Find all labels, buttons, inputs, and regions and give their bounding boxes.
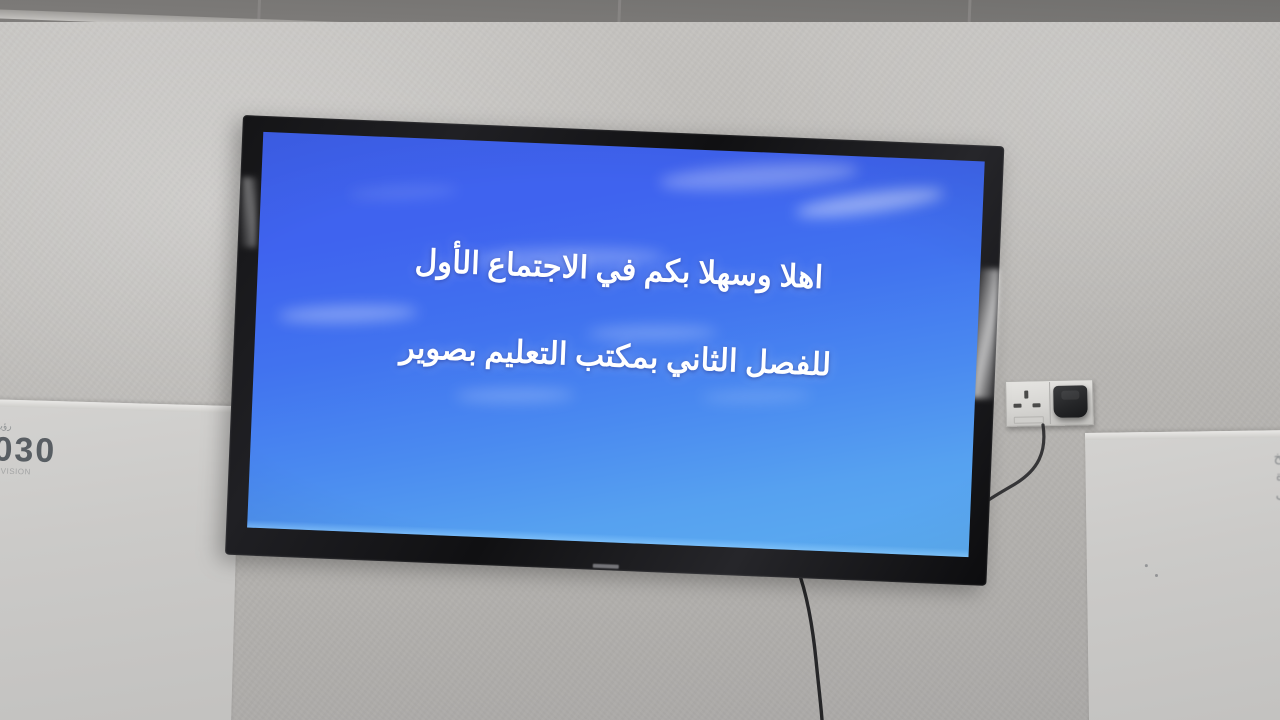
- whiteboard-right: التاريخ المادة الصف: [1085, 430, 1280, 720]
- handwriting-line-2: المادة: [1274, 467, 1280, 486]
- handwriting-line-3: الصف: [1274, 486, 1280, 505]
- vision-logo-year: 2030: [0, 432, 57, 468]
- wall-socket[interactable]: [1005, 379, 1094, 427]
- classroom-photo-scene: رؤية عمان 2030 OMAN VISION التاريخ الماد…: [0, 0, 1280, 720]
- vision-logo-subtitle: OMAN VISION: [0, 467, 56, 477]
- whiteboard-smudge: [1145, 564, 1148, 567]
- whiteboard-smudge: [1155, 574, 1158, 577]
- handwriting-line-1: التاريخ: [1273, 448, 1280, 467]
- wall-mounted-television[interactable]: اهلا وسهلا بكم في الاجتماع الأول للفصل ا…: [225, 115, 1004, 586]
- whiteboard-left: رؤية عمان 2030 OMAN VISION: [0, 399, 240, 720]
- bezel-reflection-left: [240, 177, 259, 248]
- tv-screen[interactable]: اهلا وسهلا بكم في الاجتماع الأول للفصل ا…: [247, 132, 985, 557]
- whiteboard-handwriting: التاريخ المادة الصف: [1273, 448, 1280, 505]
- power-plug[interactable]: [1053, 385, 1088, 418]
- socket-switch[interactable]: [1014, 416, 1044, 424]
- socket-outlet-left[interactable]: [1011, 390, 1044, 417]
- screen-vignette: [247, 132, 985, 557]
- vision-2030-logo: رؤية عمان 2030 OMAN VISION: [0, 421, 57, 477]
